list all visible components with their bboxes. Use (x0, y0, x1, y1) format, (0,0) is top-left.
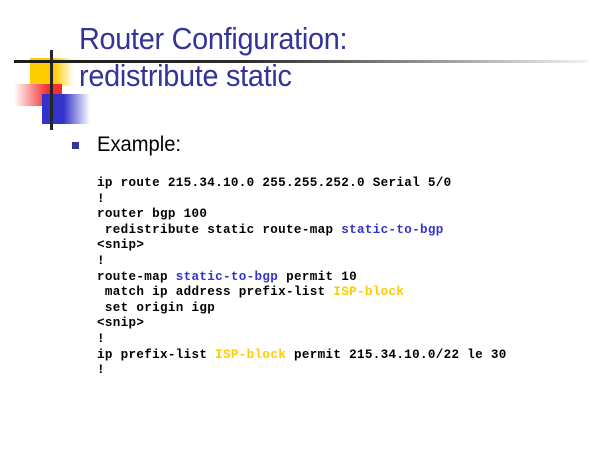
code-text: ! (97, 254, 105, 268)
code-text: ip prefix-list (97, 348, 215, 362)
code-line: ! (97, 254, 507, 270)
code-line: <snip> (97, 238, 507, 254)
code-text: permit 10 (278, 270, 357, 284)
slide-title: Router Configuration: redistribute stati… (79, 20, 544, 94)
code-line: redistribute static route-map static-to-… (97, 223, 507, 239)
code-line: match ip address prefix-list ISP-block (97, 285, 507, 301)
code-text: permit 215.34.10.0/22 le 30 (286, 348, 507, 362)
code-text: set origin igp (97, 301, 215, 315)
code-text: redistribute static route-map (97, 223, 341, 237)
code-line: set origin igp (97, 301, 507, 317)
code-line: route-map static-to-bgp permit 10 (97, 270, 507, 286)
code-line: ! (97, 192, 507, 208)
bullet-item-label: Example: (97, 133, 181, 157)
code-line: ! (97, 363, 507, 379)
code-text: ! (97, 363, 105, 377)
bullet-list-item: Example: (72, 133, 185, 157)
square-bullet-icon (72, 142, 79, 149)
code-text: router bgp 100 (97, 207, 207, 221)
code-line: ip route 215.34.10.0 255.255.252.0 Seria… (97, 176, 507, 192)
code-text: <snip> (97, 238, 144, 252)
code-text: route-map (97, 270, 176, 284)
code-line: <snip> (97, 316, 507, 332)
code-line: router bgp 100 (97, 207, 507, 223)
code-line: ! (97, 332, 507, 348)
code-token-blue: static-to-bgp (176, 270, 278, 284)
code-text: match ip address prefix-list (97, 285, 333, 299)
code-line: ip prefix-list ISP-block permit 215.34.1… (97, 348, 507, 364)
code-token-blue: static-to-bgp (341, 223, 443, 237)
code-token-gold: ISP-block (215, 348, 286, 362)
code-text: ! (97, 332, 105, 346)
code-text: ! (97, 192, 105, 206)
code-text: <snip> (97, 316, 144, 330)
code-text: ip route 215.34.10.0 255.255.252.0 Seria… (97, 176, 452, 190)
code-token-gold: ISP-block (333, 285, 404, 299)
presentation-slide: Router Configuration: redistribute stati… (0, 0, 600, 450)
router-config-code-block: ip route 215.34.10.0 255.255.252.0 Seria… (97, 176, 507, 379)
